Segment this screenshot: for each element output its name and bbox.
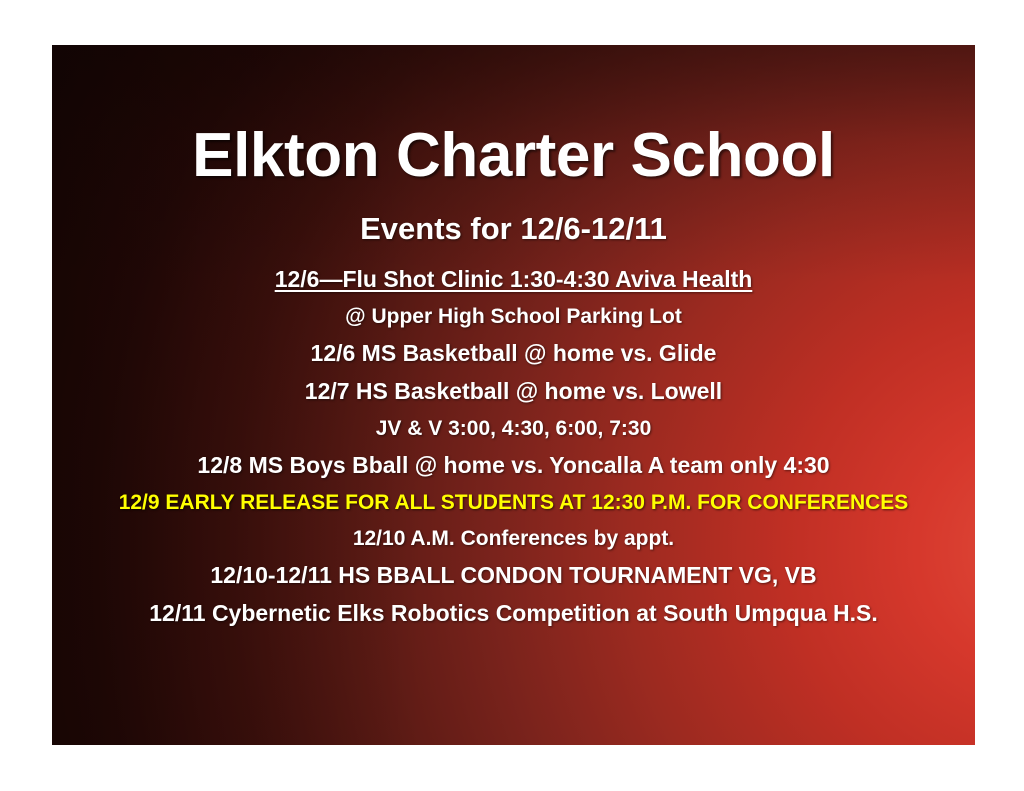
event-line: JV & V 3:00, 4:30, 6:00, 7:30: [66, 418, 961, 439]
event-line: 12/10-12/11 HS BBALL CONDON TOURNAMENT V…: [66, 564, 961, 587]
slide-subtitle: Events for 12/6-12/11: [52, 188, 975, 246]
slide-content: Elkton Charter School Events for 12/6-12…: [52, 45, 975, 745]
page-title: Elkton Charter School: [52, 45, 975, 188]
event-line: 12/11 Cybernetic Elks Robotics Competiti…: [66, 602, 961, 625]
event-list: 12/6—Flu Shot Clinic 1:30-4:30 Aviva Hea…: [52, 246, 975, 625]
event-line: 12/10 A.M. Conferences by appt.: [66, 528, 961, 549]
event-line: 12/8 MS Boys Bball @ home vs. Yoncalla A…: [66, 454, 961, 477]
event-line: @ Upper High School Parking Lot: [66, 306, 961, 327]
event-line: 12/6—Flu Shot Clinic 1:30-4:30 Aviva Hea…: [66, 268, 961, 291]
page-canvas: Elkton Charter School Events for 12/6-12…: [0, 0, 1024, 791]
event-line: 12/6 MS Basketball @ home vs. Glide: [66, 342, 961, 365]
event-line: 12/7 HS Basketball @ home vs. Lowell: [66, 380, 961, 403]
event-line: 12/9 EARLY RELEASE FOR ALL STUDENTS AT 1…: [66, 492, 961, 513]
announcement-slide: Elkton Charter School Events for 12/6-12…: [52, 45, 975, 745]
